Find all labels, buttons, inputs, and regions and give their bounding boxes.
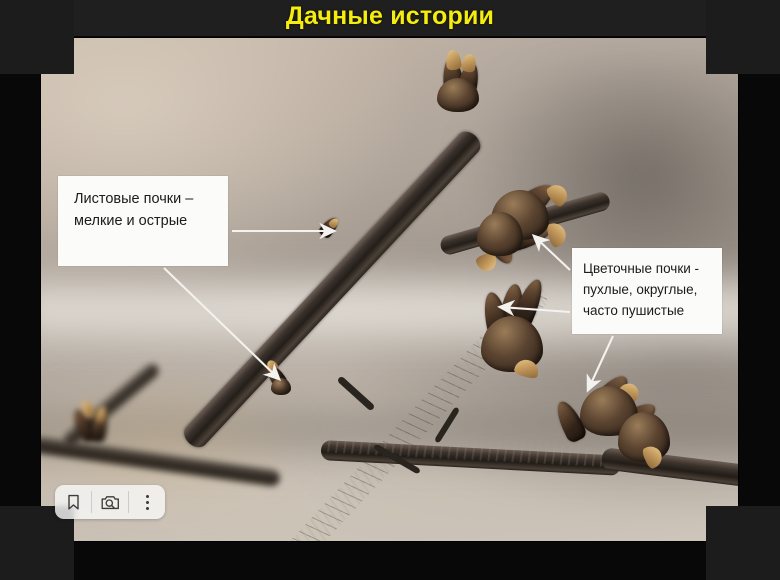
more-button[interactable] <box>129 485 165 519</box>
annotation-line: мелкие и острые <box>74 211 214 233</box>
screenshot-root: Дачные истории <box>0 0 780 580</box>
camera-lens-icon <box>101 494 120 511</box>
lens-button[interactable] <box>92 485 128 519</box>
annotation-line: часто пушистые <box>583 301 714 322</box>
bookmark-icon <box>66 494 81 511</box>
page-title: Дачные истории <box>0 1 780 31</box>
annotation-label-flower-buds: Цветочные почки - пухлые, округлые, част… <box>572 248 722 334</box>
annotation-line: пухлые, округлые, <box>583 280 714 301</box>
bookmark-button[interactable] <box>55 485 91 519</box>
image-action-toolbar[interactable] <box>55 485 165 519</box>
annotation-label-leaf-buds: Листовые почки – мелкие и острые <box>58 176 228 266</box>
more-vertical-icon <box>146 493 149 511</box>
annotation-line: Листовые почки – <box>74 189 214 211</box>
annotation-line: Цветочные почки - <box>583 259 714 280</box>
